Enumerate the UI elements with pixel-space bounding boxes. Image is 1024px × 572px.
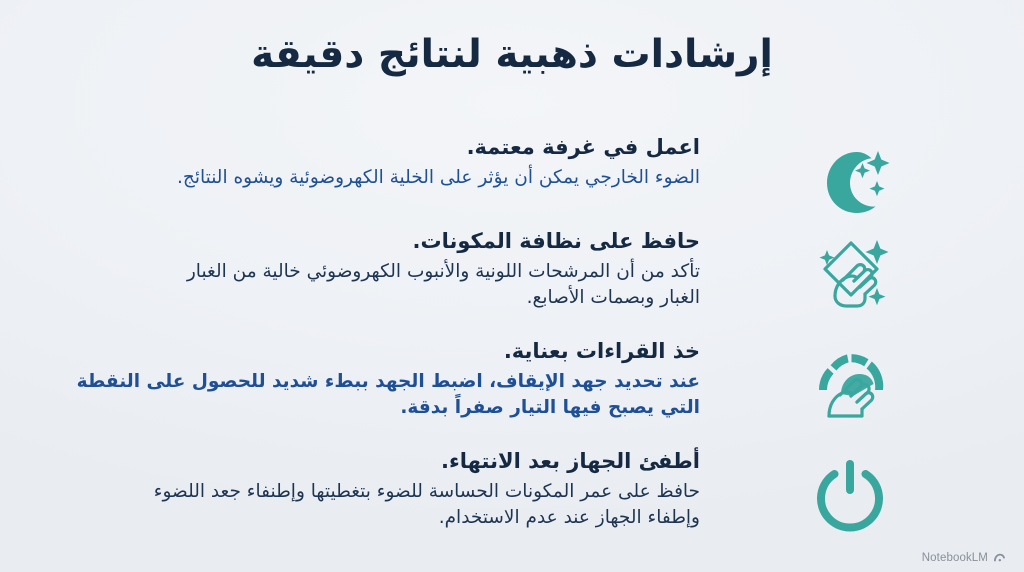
notebooklm-watermark: NotebookLM <box>922 551 1006 564</box>
tip-heading-4: أطفئ الجهاز بعد الانتهاء. <box>64 448 700 476</box>
tip-body-4-line-2: وإطفاء الجهاز عند عدم الاستخدام. <box>64 505 700 531</box>
tip-row-4: أطفئ الجهاز بعد الانتهاء. حافظ على عمر ا… <box>0 448 1024 534</box>
tip-text-1: اعمل في غرفة معتمة. الضوء الخارجي يمكن أ… <box>0 134 700 191</box>
page-title: إرشادات ذهبية لنتائج دقيقة <box>0 33 1024 78</box>
tip-body-2: تأكد من أن المرشحات اللونية والأنبوب الك… <box>64 259 700 312</box>
gauge-dial-hand-icon <box>807 342 893 424</box>
tip-body-1-line-1-blue: الضوء الخارجي يمكن أن يؤثر على الخلية ال… <box>177 167 700 188</box>
tip-body-3-line-1: عند تحديد جهد الإيقاف، اضبط الجهد ببطء ش… <box>64 369 700 395</box>
tip-icon-wrap-1 <box>700 134 1000 220</box>
tip-row-1: اعمل في غرفة معتمة. الضوء الخارجي يمكن أ… <box>0 134 1024 220</box>
notebooklm-watermark-label: NotebookLM <box>922 552 988 564</box>
tip-body-4-line-1: حافظ على عمر المكونات الحساسة للضوء بتغط… <box>64 479 700 505</box>
tip-row-2: حافظ على نظافة المكونات. تأكد من أن المر… <box>0 228 1024 314</box>
tip-text-2: حافظ على نظافة المكونات. تأكد من أن المر… <box>0 228 700 311</box>
tip-heading-2: حافظ على نظافة المكونات. <box>64 228 700 256</box>
tip-body-3-line-2: التي يصبح فيها التيار صفراً بدقة. <box>64 395 700 421</box>
tip-body-1: الضوء الخارجي يمكن أن يؤثر على الخلية ال… <box>64 165 700 191</box>
tip-row-3: خذ القراءات بعناية. عند تحديد جهد الإيقا… <box>0 338 1024 424</box>
tip-body-4: حافظ على عمر المكونات الحساسة للضوء بتغط… <box>64 479 700 532</box>
power-button-icon <box>807 452 893 534</box>
slide-canvas: إرشادات ذهبية لنتائج دقيقة اعمل في غرفة … <box>0 0 1024 572</box>
tip-icon-wrap-3 <box>700 338 1000 424</box>
tip-text-3: خذ القراءات بعناية. عند تحديد جهد الإيقا… <box>0 338 700 421</box>
tip-body-3: عند تحديد جهد الإيقاف، اضبط الجهد ببطء ش… <box>64 369 700 422</box>
tip-heading-3: خذ القراءات بعناية. <box>64 338 700 366</box>
tip-text-4: أطفئ الجهاز بعد الانتهاء. حافظ على عمر ا… <box>0 448 700 531</box>
tip-icon-wrap-4 <box>700 448 1000 534</box>
tip-body-2-line-1: تأكد من أن المرشحات اللونية والأنبوب الك… <box>64 259 700 285</box>
crescent-moon-stars-icon <box>807 138 893 220</box>
notebooklm-logo-icon <box>993 551 1006 564</box>
tip-body-2-line-2: الغبار وبصمات الأصابع. <box>64 285 700 311</box>
hand-cleaning-cloth-icon <box>807 232 893 314</box>
tip-heading-1: اعمل في غرفة معتمة. <box>64 134 700 162</box>
tip-icon-wrap-2 <box>700 228 1000 314</box>
